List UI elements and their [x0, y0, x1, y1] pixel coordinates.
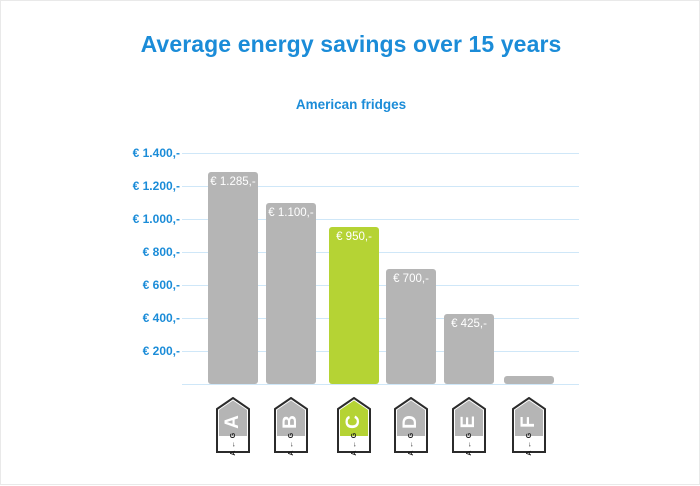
chart-page: Average energy savings over 15 years Ame… — [0, 0, 700, 485]
y-axis-tick-label: € 1.200,- — [80, 180, 180, 192]
energy-badge-c[interactable]: CA ← G — [337, 397, 371, 453]
bar-e[interactable]: € 425,- — [444, 314, 494, 384]
bar-b[interactable]: € 1.100,- — [266, 203, 316, 385]
bar-a[interactable]: € 1.285,- — [208, 172, 258, 384]
energy-badge-e[interactable]: EA ← G — [452, 397, 486, 453]
bar-c[interactable]: € 950,- — [329, 227, 379, 384]
gridline — [182, 153, 579, 154]
bar-value-label: € 950,- — [329, 231, 379, 243]
badge-scale-text: A ← G — [347, 427, 361, 461]
energy-badge-a[interactable]: AA ← G — [216, 397, 250, 453]
y-axis-tick-label: € 400,- — [80, 312, 180, 324]
bar-value-label: € 425,- — [444, 318, 494, 330]
bar-value-label: € 700,- — [386, 273, 436, 285]
axis-baseline — [182, 384, 579, 385]
badge-scale-text: A ← G — [284, 427, 298, 461]
y-axis-tick-label: € 1.400,- — [80, 147, 180, 159]
badge-scale-text: A ← G — [404, 427, 418, 461]
badge-scale-text: A ← G — [522, 427, 536, 461]
bar-f[interactable] — [504, 376, 554, 384]
energy-badge-f[interactable]: FA ← G — [512, 397, 546, 453]
energy-badge-d[interactable]: DA ← G — [394, 397, 428, 453]
y-axis-tick-label: € 200,- — [80, 345, 180, 357]
plot-area: € 1.400,-€ 1.200,-€ 1.000,-€ 800,-€ 600,… — [1, 1, 700, 486]
badge-scale-text: A ← G — [462, 427, 476, 461]
y-axis-tick-label: € 800,- — [80, 246, 180, 258]
energy-badge-b[interactable]: BA ← G — [274, 397, 308, 453]
bar-value-label: € 1.100,- — [266, 207, 316, 219]
badge-scale-text: A ← G — [226, 427, 240, 461]
bar-value-label: € 1.285,- — [208, 176, 258, 188]
y-axis-tick-label: € 600,- — [80, 279, 180, 291]
bar-d[interactable]: € 700,- — [386, 269, 436, 385]
y-axis-tick-label: € 1.000,- — [80, 213, 180, 225]
